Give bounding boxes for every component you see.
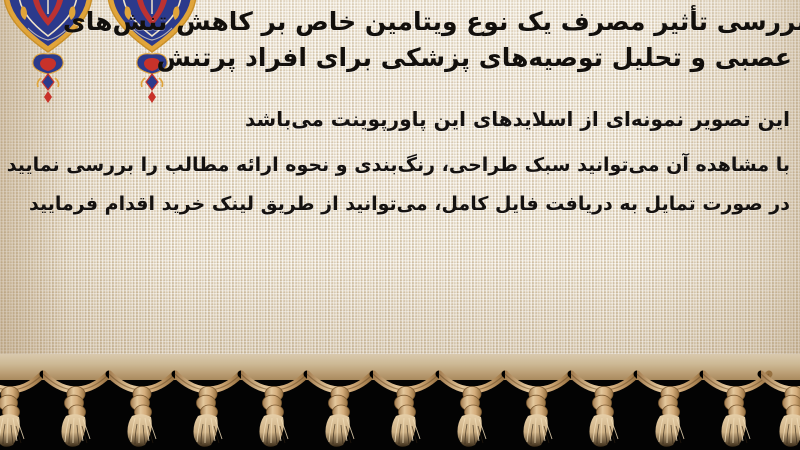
- body-line-design-review: با مشاهده آن می‌توانید سبک طراحی، رنگ‌بن…: [0, 150, 790, 180]
- body-line-sample-notice: این تصویر نمونه‌ای از اسلایدهای این پاور…: [0, 104, 790, 134]
- slide-title-line-1: بررسی تأثیر مصرف یک نوع ویتامین خاص بر ک…: [0, 4, 800, 40]
- slide-text-layer: بررسی تأثیر مصرف یک نوع ویتامین خاص بر ک…: [0, 0, 800, 372]
- slide-canvas: بررسی تأثیر مصرف یک نوع ویتامین خاص بر ک…: [0, 0, 800, 450]
- slide-body-text: این تصویر نمونه‌ای از اسلایدهای این پاور…: [0, 104, 790, 219]
- body-line-purchase-link: در صورت تمایل به دریافت فایل کامل، می‌تو…: [0, 189, 790, 219]
- slide-title-line-2: عصبی و تحلیل توصیه‌های پزشکی برای افراد …: [0, 40, 792, 76]
- fringe-tassels: [0, 354, 800, 450]
- tassel-fringe-border: [0, 354, 800, 450]
- slide-title: بررسی تأثیر مصرف یک نوع ویتامین خاص بر ک…: [0, 4, 792, 76]
